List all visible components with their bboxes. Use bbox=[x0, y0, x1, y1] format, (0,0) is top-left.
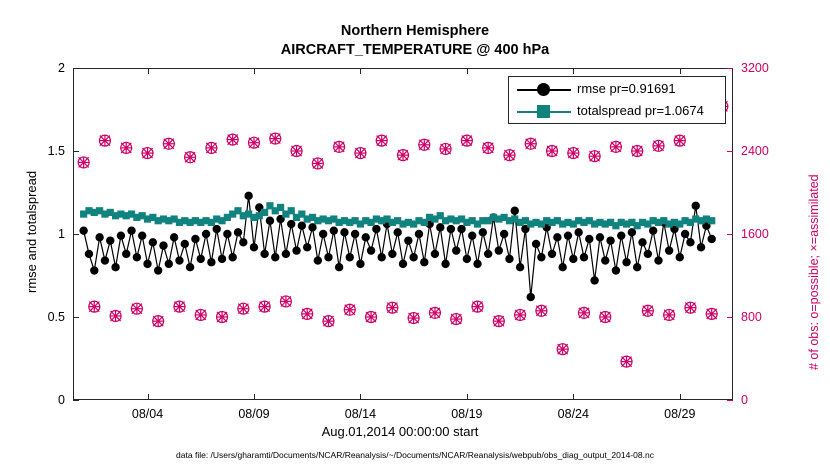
x-tick-label: 08/14 bbox=[345, 407, 376, 421]
x-tick bbox=[573, 394, 574, 400]
x-tick-top bbox=[680, 68, 681, 74]
legend-label-rmse: rmse pr=0.91691 bbox=[577, 81, 676, 96]
legend-label-totalspread: totalspread pr=1.0674 bbox=[577, 103, 704, 118]
y-tick-label-left: 2 bbox=[21, 61, 65, 75]
y-tick-left bbox=[73, 400, 79, 401]
y-tick-label-left: 0 bbox=[21, 393, 65, 407]
y-tick-left bbox=[73, 68, 79, 69]
y-tick-label-left: 1 bbox=[21, 227, 65, 241]
x-tick-label: 08/29 bbox=[664, 407, 695, 421]
y-tick-left bbox=[73, 234, 79, 235]
y-tick-label-right: 2400 bbox=[741, 144, 769, 158]
chart-title-line1: Northern Hemisphere bbox=[0, 22, 830, 41]
x-tick bbox=[467, 394, 468, 400]
x-tick-label: 08/04 bbox=[132, 407, 163, 421]
legend-marker-square-icon bbox=[537, 105, 550, 118]
data-file-note: data file: /Users/gharamti/Documents/NCA… bbox=[0, 450, 830, 460]
x-tick-label: 08/24 bbox=[558, 407, 589, 421]
y-tick-right bbox=[727, 68, 733, 69]
chart-title: Northern Hemisphere AIRCRAFT_TEMPERATURE… bbox=[0, 22, 830, 60]
y-tick-left bbox=[73, 151, 79, 152]
chart-title-line2: AIRCRAFT_TEMPERATURE @ 400 hPa bbox=[0, 41, 830, 60]
y-tick-label-left: 0.5 bbox=[21, 310, 65, 324]
y-tick-right bbox=[727, 400, 733, 401]
x-tick bbox=[254, 394, 255, 400]
x-tick bbox=[360, 394, 361, 400]
x-tick bbox=[680, 394, 681, 400]
legend-item-rmse: rmse pr=0.91691 bbox=[509, 78, 727, 102]
y-tick-label-left: 1.5 bbox=[21, 144, 65, 158]
x-tick bbox=[148, 394, 149, 400]
y-tick-label-right: 3200 bbox=[741, 61, 769, 75]
x-tick-top bbox=[573, 68, 574, 74]
x-tick-label: 08/09 bbox=[238, 407, 269, 421]
y-axis-right-title: # of obs: o=possible; ×=assimilated bbox=[807, 174, 821, 370]
legend-item-totalspread: totalspread pr=1.0674 bbox=[509, 100, 727, 124]
y-tick-right bbox=[727, 151, 733, 152]
y-tick-right bbox=[727, 317, 733, 318]
x-tick-label: 08/19 bbox=[451, 407, 482, 421]
x-tick-top bbox=[467, 68, 468, 74]
y-tick-label-right: 800 bbox=[741, 310, 762, 324]
y-tick-left bbox=[73, 317, 79, 318]
x-tick-top bbox=[254, 68, 255, 74]
y-tick-label-right: 0 bbox=[741, 393, 748, 407]
legend-marker-circle-icon bbox=[537, 83, 550, 96]
x-axis-title: Aug.01,2014 00:00:00 start bbox=[0, 424, 815, 439]
x-tick-top bbox=[148, 68, 149, 74]
legend: rmse pr=0.91691 totalspread pr=1.0674 bbox=[508, 76, 726, 124]
x-tick-top bbox=[360, 68, 361, 74]
y-tick-label-right: 1600 bbox=[741, 227, 769, 241]
y-tick-right bbox=[727, 234, 733, 235]
